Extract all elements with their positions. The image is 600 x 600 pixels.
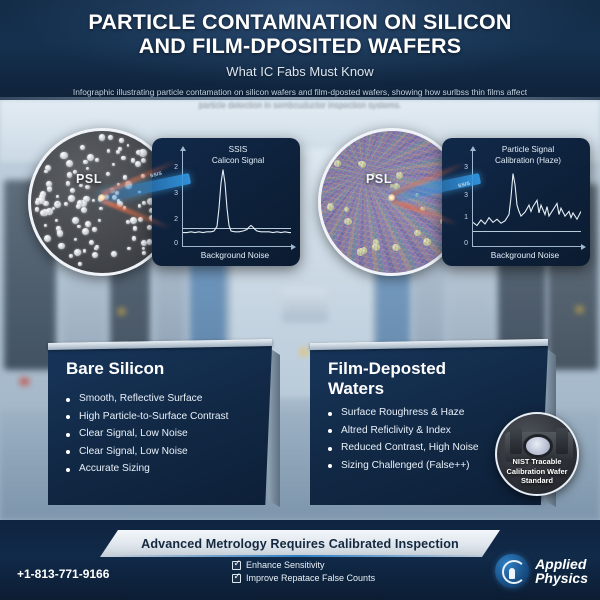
infographic-root: PARTICLE CONTAMNATION ON SILICON AND FIL… xyxy=(0,0,600,600)
beam-hotspot xyxy=(388,194,395,201)
applied-physics-logo-icon xyxy=(495,554,529,588)
particle-dot xyxy=(357,248,364,255)
brand-logo-text: Applied Physics xyxy=(535,557,588,585)
y-tick-label: 0 xyxy=(456,240,468,247)
particle-dot xyxy=(66,160,73,167)
brand-name-line-1: Applied xyxy=(535,557,588,571)
nist-line-2: Calibration Wafer xyxy=(497,467,577,477)
panel-right-heading-line-1: Film-Deposted xyxy=(328,359,446,378)
particle-dot xyxy=(55,219,59,223)
status-light xyxy=(300,348,308,356)
particle-dot xyxy=(138,204,142,208)
checklist-label: Improve Repatace False Counts xyxy=(246,573,375,583)
particle-dot xyxy=(99,207,102,210)
y-tick-label: 2 xyxy=(166,216,178,223)
x-axis-line xyxy=(182,246,292,247)
fixture-arm-right xyxy=(556,428,568,454)
particle-dot xyxy=(35,200,40,205)
particle-dot xyxy=(86,167,89,170)
benefits-checklist: Enhance Sensitivity Improve Repatace Fal… xyxy=(232,560,375,586)
title-line-2: AND FILM-DPOSITED WAFERS xyxy=(0,34,600,58)
particle-dot xyxy=(95,158,99,162)
list-item: Clear Signal, Low Noise xyxy=(66,446,272,457)
y-tick-label: 1 xyxy=(456,214,468,221)
beam-hotspot xyxy=(98,194,105,201)
status-light xyxy=(20,378,29,385)
particle-dot xyxy=(127,247,131,251)
signal-trace-film xyxy=(473,150,581,246)
particle-dot xyxy=(130,217,137,224)
particle-dot xyxy=(64,202,68,206)
nist-badge-text: NIST Tracable Calibration Wafer Standard xyxy=(497,457,577,486)
particle-dot xyxy=(60,152,67,159)
particle-dot xyxy=(66,181,70,185)
particle-dot xyxy=(358,161,364,167)
x-axis-line xyxy=(472,246,582,247)
particle-dot xyxy=(116,150,120,154)
particle-dot xyxy=(35,207,39,211)
particle-dot xyxy=(46,209,51,214)
particle-dot xyxy=(68,195,75,202)
particle-dot xyxy=(58,243,65,250)
particle-dot xyxy=(396,172,402,178)
panel-right-heading-line-2: Waters xyxy=(328,379,384,398)
chart-card-film-deposited: Particle Signal Calibration (Haze) 3 3 1… xyxy=(442,138,590,266)
particle-dot xyxy=(361,247,367,253)
particle-dot xyxy=(44,235,51,242)
list-item: Smooth, Reflective Surface xyxy=(66,393,272,404)
particle-dot xyxy=(344,218,352,226)
particle-dot xyxy=(119,138,124,143)
particle-dot xyxy=(334,160,341,167)
particle-dot xyxy=(112,163,115,166)
particle-dot xyxy=(80,145,85,150)
checkbox-checked-icon xyxy=(232,561,241,570)
psl-label-bare: PSL xyxy=(76,172,102,186)
contact-phone: +1-813-771-9166 xyxy=(17,567,109,581)
particle-dot xyxy=(344,207,349,212)
particle-dot xyxy=(133,226,138,231)
particle-dot xyxy=(132,236,136,240)
particle-dot xyxy=(392,244,400,252)
particle-dot xyxy=(141,158,146,163)
panel-right-heading: Film-Deposted Waters xyxy=(310,345,548,399)
particle-dot xyxy=(89,240,94,245)
particle-dot xyxy=(106,172,110,176)
panel-bare-silicon: Bare Silicon Smooth, Reflective Surface … xyxy=(48,345,272,505)
particle-dot xyxy=(108,135,113,140)
x-axis-arrow-icon xyxy=(581,244,586,250)
fixture-arm-left xyxy=(510,428,522,454)
checklist-label: Enhance Sensitivity xyxy=(246,560,325,570)
particle-dot xyxy=(121,156,125,160)
particle-dot xyxy=(45,165,52,172)
particle-dot xyxy=(95,245,99,249)
particle-dot xyxy=(74,238,77,241)
particle-dot xyxy=(142,247,145,250)
header: PARTICLE CONTAMNATION ON SILICON AND FIL… xyxy=(0,0,600,100)
checkbox-checked-icon xyxy=(232,574,241,583)
brand-logo: Applied Physics xyxy=(495,554,588,588)
list-item: Clear Signal, Low Noise xyxy=(66,428,272,439)
particle-dot xyxy=(414,230,420,236)
particle-dot xyxy=(123,175,127,179)
list-item: Accurate Sizing xyxy=(66,463,272,474)
particle-dot xyxy=(70,188,75,193)
brand-name-line-2: Physics xyxy=(535,571,588,585)
particle-dot xyxy=(423,238,431,246)
title-line-1: PARTICLE CONTAMNATION ON SILICON xyxy=(0,10,600,34)
particle-dot xyxy=(81,207,87,213)
checklist-row: Enhance Sensitivity xyxy=(232,560,375,570)
x-axis-label-bare: Background Noise xyxy=(174,250,296,260)
particle-dot xyxy=(46,181,52,187)
equipment-console xyxy=(282,288,328,322)
particle-dot xyxy=(373,239,379,245)
signal-trace-bare xyxy=(183,150,291,246)
particle-dot xyxy=(359,161,366,168)
particle-dot xyxy=(83,196,90,203)
particle-dot xyxy=(76,204,81,209)
status-light xyxy=(118,308,125,315)
particle-dot xyxy=(99,134,105,140)
particle-dot xyxy=(72,217,79,224)
y-tick-label: 0 xyxy=(166,240,178,247)
y-tick-label: 3 xyxy=(456,192,468,199)
particle-dot xyxy=(69,254,73,258)
list-item: High Particle-to-Surface Contrast xyxy=(66,411,272,422)
particle-dot xyxy=(107,149,111,153)
particle-dot xyxy=(44,224,47,227)
page-title: PARTICLE CONTAMNATION ON SILICON AND FIL… xyxy=(0,0,600,58)
nist-calibration-badge: NIST Tracable Calibration Wafer Standard xyxy=(495,412,579,496)
particle-dot xyxy=(136,150,141,155)
psl-label-film: PSL xyxy=(366,172,392,186)
particle-dot xyxy=(98,219,101,222)
particle-dot xyxy=(83,249,87,253)
y-tick-label: 3 xyxy=(166,190,178,197)
list-item: Surface Roughress & Haze xyxy=(328,407,548,418)
chart-card-bare-silicon: SSIS Calicon Signal 2 3 2 0 Background N… xyxy=(152,138,300,266)
checklist-row: Improve Repatace False Counts xyxy=(232,573,375,583)
page-description: Infographic illustrating particle contam… xyxy=(0,86,600,110)
status-light xyxy=(576,306,583,313)
description-line-1: Infographic illustrating particle contam… xyxy=(73,87,423,97)
x-axis-arrow-icon xyxy=(291,244,296,250)
particle-dot xyxy=(111,251,117,257)
particle-dot xyxy=(77,225,81,229)
calibration-wafer-graphic xyxy=(523,434,553,458)
nist-line-1: NIST Tracable xyxy=(497,457,577,467)
particle-dot xyxy=(142,201,146,205)
panel-left-bullet-list: Smooth, Reflective Surface High Particle… xyxy=(48,393,272,474)
particle-dot xyxy=(372,243,380,251)
particle-dot xyxy=(74,249,81,256)
particle-dot xyxy=(127,144,130,147)
page-subtitle: What IC Fabs Must Know xyxy=(0,64,600,79)
particle-dot xyxy=(142,251,146,255)
particle-dot xyxy=(92,252,98,258)
particle-dot xyxy=(82,228,89,235)
particle-dot xyxy=(135,161,141,167)
cta-ribbon: Advanced Metrology Requires Calibrated I… xyxy=(100,530,500,557)
panel-left-heading: Bare Silicon xyxy=(48,345,272,379)
nist-line-3: Standard xyxy=(497,476,577,486)
x-axis-label-film: Background Noise xyxy=(464,250,586,260)
particle-dot xyxy=(67,172,72,177)
particle-dot xyxy=(87,154,94,161)
particle-dot xyxy=(327,203,334,210)
particle-dot xyxy=(56,195,59,198)
particle-dot xyxy=(78,262,82,266)
particle-dot xyxy=(57,230,64,237)
particle-dot xyxy=(83,160,88,165)
particle-dot xyxy=(92,199,95,202)
particle-dot xyxy=(92,227,97,232)
cta-ribbon-text: Advanced Metrology Requires Calibrated I… xyxy=(141,537,459,551)
particle-dot xyxy=(126,220,130,224)
